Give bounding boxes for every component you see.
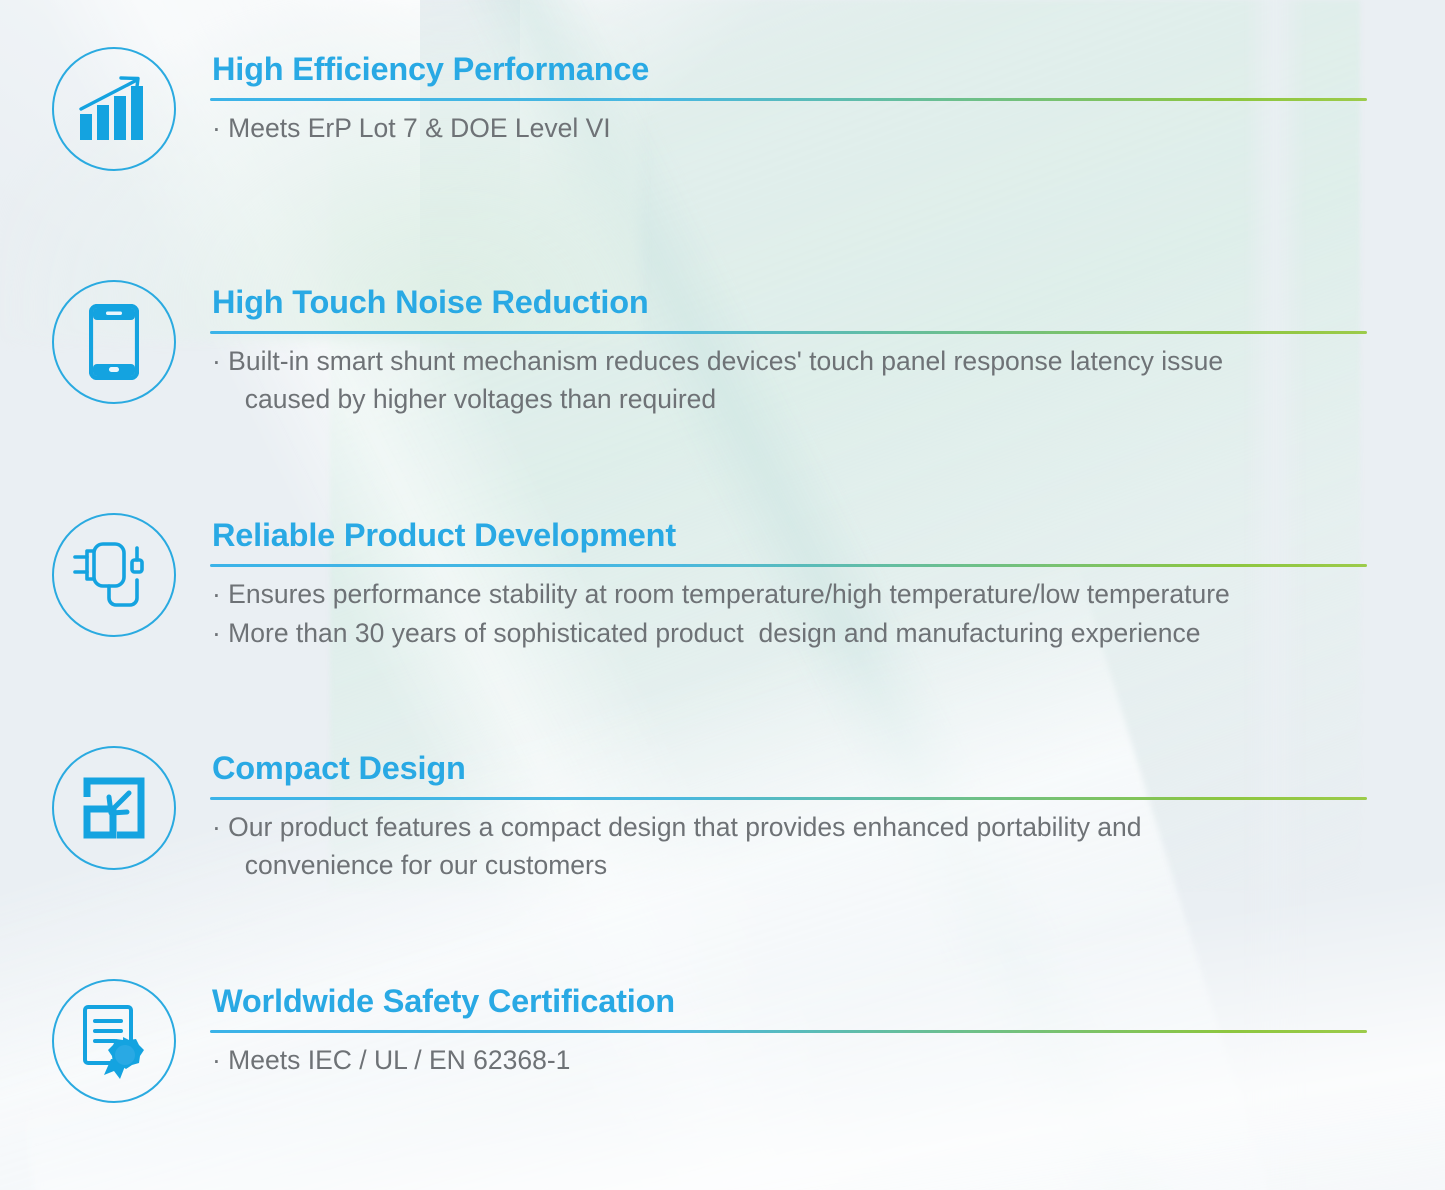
feature-bullets: · Built-in smart shunt mechanism reduces… [210,343,1367,418]
feature-bullet: · Our product features a compact design … [212,809,1367,884]
feature-row: Compact Design · Our product features a … [0,746,1445,886]
smartphone-icon [52,280,176,404]
feature-bullet: · Meets IEC / UL / EN 62368-1 [212,1042,1367,1080]
feature-divider [210,564,1367,567]
feature-body: High Efficiency Performance · Meets ErP … [210,47,1367,149]
feature-title: High Efficiency Performance [212,51,1367,87]
power-adapter-icon [52,513,176,637]
feature-icon-wrap [50,746,178,870]
feature-bullets: · Meets IEC / UL / EN 62368-1 [210,1042,1367,1080]
feature-icon-wrap [50,280,178,404]
feature-title: Worldwide Safety Certification [212,983,1367,1019]
feature-row: High Efficiency Performance · Meets ErP … [0,47,1445,171]
compact-resize-icon [52,746,176,870]
feature-bullet: · Meets ErP Lot 7 & DOE Level VI [212,110,1367,148]
feature-row: High Touch Noise Reduction · Built-in sm… [0,280,1445,420]
feature-title: Compact Design [212,750,1367,786]
feature-icon-wrap [50,47,178,171]
feature-divider [210,797,1367,800]
feature-bullet: · Ensures performance stability at room … [212,576,1367,614]
feature-body: High Touch Noise Reduction · Built-in sm… [210,280,1367,420]
feature-row: Reliable Product Development · Ensures p… [0,513,1445,654]
feature-body: Worldwide Safety Certification · Meets I… [210,979,1367,1081]
feature-bullet: · Built-in smart shunt mechanism reduces… [212,343,1367,418]
feature-icon-wrap [50,979,178,1103]
feature-body: Reliable Product Development · Ensures p… [210,513,1367,654]
feature-bullets: · Ensures performance stability at room … [210,576,1367,652]
feature-bullets: · Our product features a compact design … [210,809,1367,884]
feature-list-page: High Efficiency Performance · Meets ErP … [0,0,1445,1190]
feature-divider [210,98,1367,101]
feature-body: Compact Design · Our product features a … [210,746,1367,886]
feature-row: Worldwide Safety Certification · Meets I… [0,979,1445,1103]
feature-title: Reliable Product Development [212,517,1367,553]
feature-bullet: · More than 30 years of sophisticated pr… [212,615,1367,653]
feature-divider [210,1030,1367,1033]
bar-chart-growth-icon [52,47,176,171]
feature-bullets: · Meets ErP Lot 7 & DOE Level VI [210,110,1367,148]
certificate-seal-icon [52,979,176,1103]
feature-title: High Touch Noise Reduction [212,284,1367,320]
feature-icon-wrap [50,513,178,637]
feature-divider [210,331,1367,334]
